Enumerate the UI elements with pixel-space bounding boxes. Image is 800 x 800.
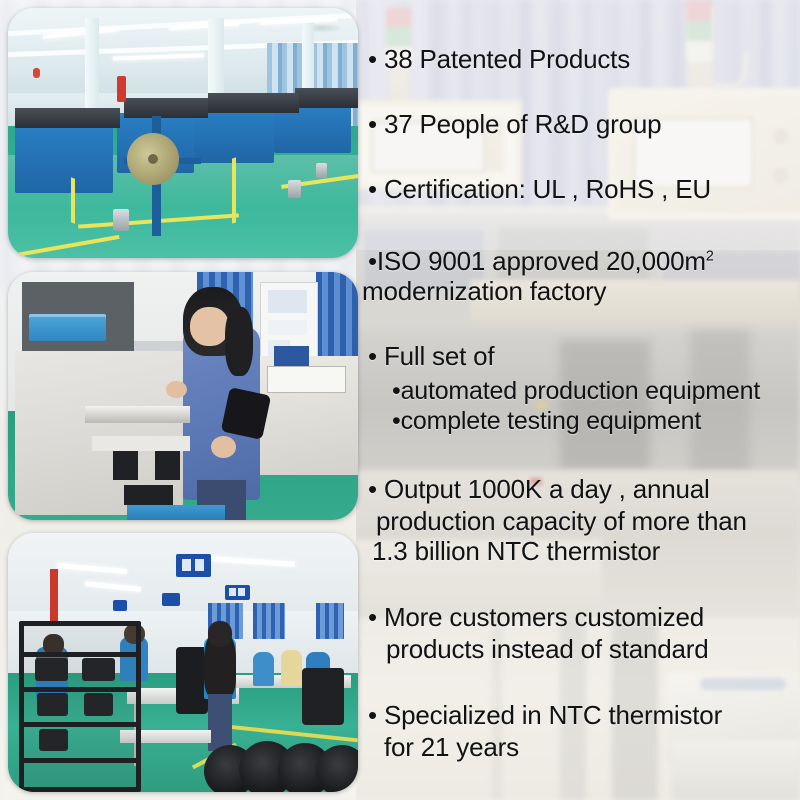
subbullet-automated: •automated production equipment: [392, 378, 760, 404]
photo-factory-machine-hall: [8, 8, 358, 258]
photo-assembly-line-workers: [8, 533, 358, 792]
bullet-text: complete testing equipment: [401, 407, 702, 435]
bullet-glyph: •: [392, 377, 401, 405]
bullet-output-line2: production capacity of more than: [376, 508, 747, 535]
bullet-list: • 38 Patented Products • 37 People of R&…: [362, 0, 800, 800]
bullet-iso-line1: •ISO 9001 approved 20,000m2: [368, 248, 714, 275]
bullet-custom-line1: • More customers customized: [368, 604, 704, 631]
bullet-patents: • 38 Patented Products: [368, 46, 630, 73]
bullet-glyph: •: [368, 246, 377, 276]
bullet-text: More customers customized: [384, 602, 704, 632]
bullet-text: Full set of: [384, 341, 495, 371]
bullet-full-set: • Full set of: [368, 343, 494, 370]
bullet-certification: • Certification: UL , RoHS , EU: [368, 176, 711, 203]
bullet-glyph: •: [368, 602, 377, 632]
bullet-special-line1: • Specialized in NTC thermistor: [368, 702, 722, 729]
bullet-text: Specialized in NTC thermistor: [384, 700, 722, 730]
bullet-glyph: •: [368, 700, 377, 730]
subbullet-testing: •complete testing equipment: [392, 408, 701, 434]
bullet-text: automated production equipment: [401, 377, 761, 405]
bullet-text: Certification: UL , RoHS , EU: [384, 174, 711, 204]
bullet-glyph: •: [368, 44, 377, 74]
bullet-text: 38 Patented Products: [384, 44, 630, 74]
bullet-text: ISO 9001 approved 20,000m: [377, 246, 706, 276]
bullet-glyph: •: [368, 109, 377, 139]
bullet-custom-line2: products instead of standard: [386, 636, 709, 663]
bullet-special-line2: for 21 years: [384, 734, 519, 761]
bullet-output-line1: • Output 1000K a day , annual: [368, 476, 710, 503]
bullet-text: 37 People of R&D group: [384, 109, 661, 139]
bullet-output-line3: 1.3 billion NTC thermistor: [372, 538, 660, 565]
bullet-rd-group: • 37 People of R&D group: [368, 111, 661, 138]
bullet-iso-line2: modernization factory: [362, 278, 606, 305]
bullet-glyph: •: [392, 407, 401, 435]
capability-slide: • 38 Patented Products • 37 People of R&…: [0, 0, 800, 800]
bullet-glyph: •: [368, 174, 377, 204]
bullet-text: Output 1000K a day , annual: [384, 474, 710, 504]
bullet-glyph: •: [368, 341, 377, 371]
bullet-glyph: •: [368, 474, 377, 504]
photo-worker-operating-machine: [8, 272, 358, 520]
superscript-square-meters: 2: [706, 248, 714, 264]
